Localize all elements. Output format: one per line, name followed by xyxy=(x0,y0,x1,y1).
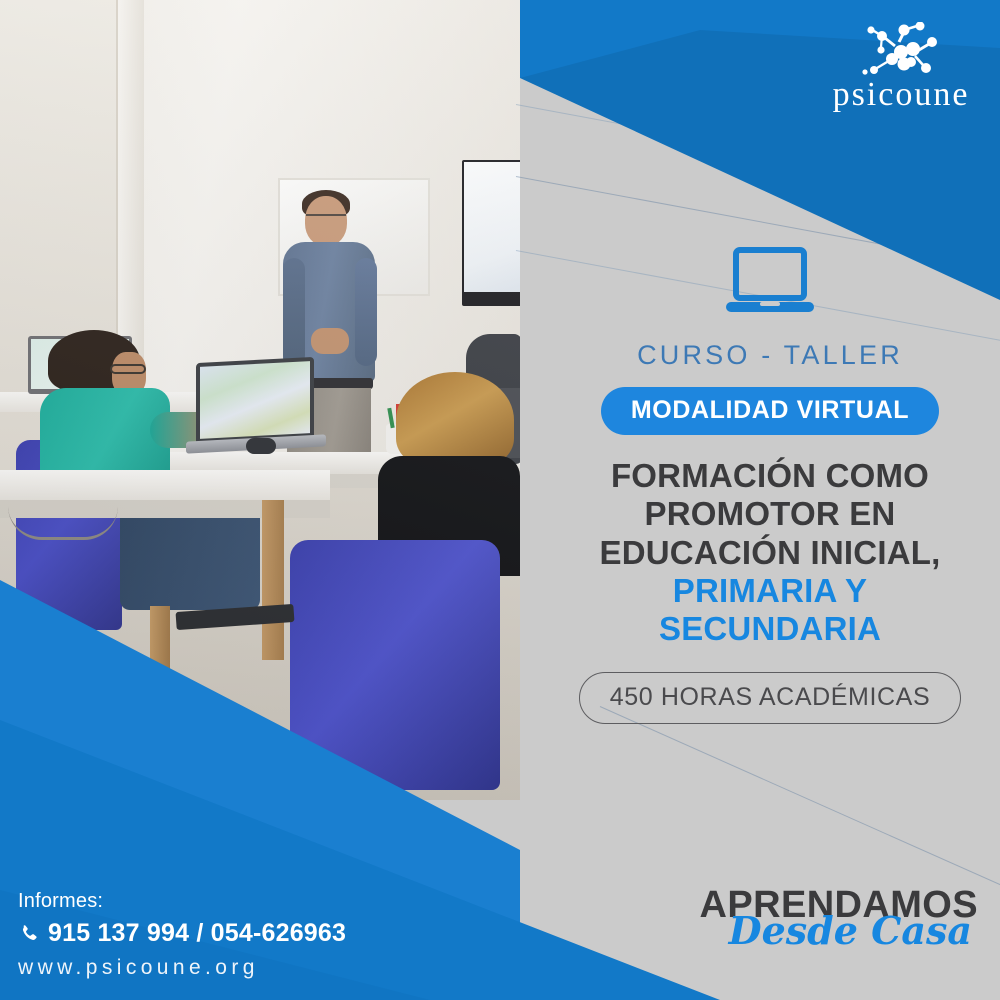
course-headline: FORMACIÓN COMO PROMOTOR EN EDUCACIÓN INI… xyxy=(560,457,980,648)
modality-badge: MODALIDAD VIRTUAL xyxy=(601,387,939,435)
contact-website[interactable]: www.psicoune.org xyxy=(18,956,346,980)
phone-icon xyxy=(18,923,39,944)
decor-stripe xyxy=(600,706,1000,898)
hours-badge: 450 HORAS ACADÉMICAS xyxy=(579,672,961,724)
contact-block: Informes: 915 137 994 / 054-626963 www.p… xyxy=(18,890,346,980)
tagline-block: APRENDAMOS Desde Casa xyxy=(678,886,978,978)
course-eyebrow: CURSO - TALLER xyxy=(560,340,980,371)
contact-title: Informes: xyxy=(18,890,346,913)
headline-line-1: FORMACIÓN COMO xyxy=(560,457,980,495)
contact-phone-row[interactable]: 915 137 994 / 054-626963 xyxy=(18,919,346,948)
laptop-icon xyxy=(724,246,816,318)
headline-line-3: EDUCACIÓN INICIAL, xyxy=(560,534,980,572)
course-info-panel: CURSO - TALLER MODALIDAD VIRTUAL FORMACI… xyxy=(560,246,980,724)
brand-name: psicoune xyxy=(826,78,976,112)
headline-line-2: PROMOTOR EN xyxy=(560,495,980,533)
molecule-network-icon xyxy=(859,22,943,76)
headline-highlight-1: PRIMARIA Y xyxy=(560,572,980,610)
brand-logo[interactable]: psicoune xyxy=(826,22,976,112)
headline-highlight-2: SECUNDARIA xyxy=(560,610,980,648)
flyer-canvas: psicoune CURSO - TALLER MODALIDAD VIRTUA… xyxy=(0,0,1000,1000)
contact-phone-numbers: 915 137 994 / 054-626963 xyxy=(48,919,346,948)
